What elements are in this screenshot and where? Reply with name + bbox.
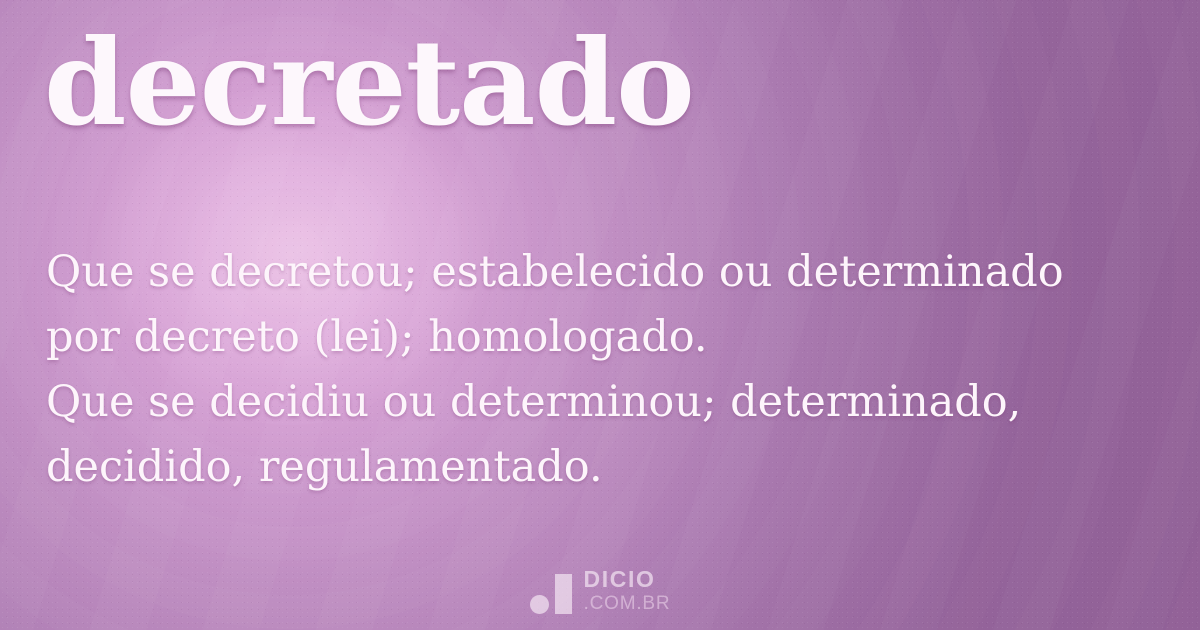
- logo-wordmark: DICIO .COM.BR: [584, 568, 671, 614]
- logo-brand-name: DICIO: [584, 568, 671, 591]
- card-content: decretado Que se decretou; estabelecido …: [0, 0, 1200, 630]
- definition-list: Que se decretou; estabelecido ou determi…: [46, 240, 1151, 500]
- definition-item: Que se decidiu ou determinou; determinad…: [46, 370, 1151, 500]
- logo-circle-icon: [530, 595, 549, 614]
- word-definition-card: decretado Que se decretou; estabelecido …: [0, 0, 1200, 630]
- page-title: decretado: [44, 24, 694, 142]
- logo-domain-suffix: .COM.BR: [584, 594, 671, 613]
- definition-item: Que se decretou; estabelecido ou determi…: [46, 240, 1151, 370]
- logo-bar-icon: [555, 574, 572, 614]
- logo-mark-icon: [530, 572, 572, 614]
- dicio-logo[interactable]: DICIO .COM.BR: [0, 568, 1200, 614]
